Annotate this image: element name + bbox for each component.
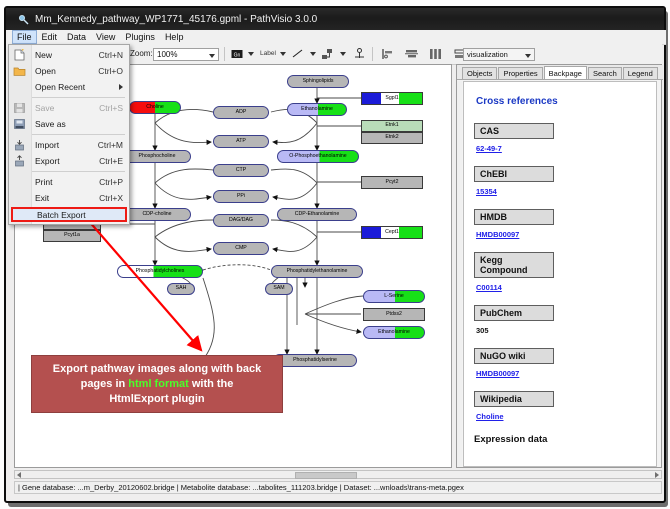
pathway-node-label: Phosphatidylcholines (136, 269, 185, 274)
visualization-combo[interactable]: visualization (463, 48, 535, 61)
scroll-right-icon[interactable] (655, 472, 659, 478)
cross-reference-list: CAS62-49-7ChEBI15354HMDBHMDB00097Kegg Co… (474, 123, 646, 421)
xref-header-kegg-compound: Kegg Compound (474, 252, 554, 278)
menu-data[interactable]: Data (62, 30, 91, 44)
xref-value-row: 15354 (476, 187, 646, 196)
pathway-node-label: Pcyt2 (386, 180, 399, 185)
annotation-line-2: pages in html format with the (81, 377, 234, 392)
pathway-node-label: Choline (146, 105, 164, 110)
pathway-node-label: Ethanolamine (378, 330, 410, 335)
pathway-node-label: Ptdss2 (386, 312, 402, 317)
xref-header-pubchem: PubChem (474, 305, 554, 321)
datanode-icon[interactable]: Gn (230, 47, 245, 61)
pathway-node-phosphatidylcholines[interactable]: Phosphatidylcholines (117, 265, 203, 278)
application-window: Mm_Kennedy_pathway_WP1771_45176.gpml - P… (0, 0, 670, 509)
side-panel-tabs[interactable]: Objects Properties Backpage Search Legen… (457, 65, 663, 80)
xref-header-wikipedia: Wikipedia (474, 391, 554, 407)
tab-properties[interactable]: Properties (498, 67, 542, 79)
pathway-node-phosphatidylserine[interactable]: Phosphatidylserine (273, 354, 357, 367)
status-bar: | Gene database: ...m_Derby_20120602.bri… (14, 481, 662, 494)
file-menu-item-save-accel: Ctrl+S (99, 103, 123, 113)
open-folder-icon (13, 65, 26, 77)
import-icon (13, 139, 26, 151)
file-menu-item-open-accel: Ctrl+O (98, 66, 123, 76)
tab-legend[interactable]: Legend (623, 67, 658, 79)
pathway-node-adp[interactable]: ADP (213, 106, 269, 119)
file-menu-item-import[interactable]: Import Ctrl+M (9, 137, 129, 153)
file-menu-item-batch-export-label: Batch Export (37, 210, 86, 220)
connector-icon[interactable] (320, 47, 335, 61)
save-icon (13, 102, 26, 114)
pathway-node-label: Etnk2 (385, 135, 398, 140)
file-menu-item-export-accel: Ctrl+E (99, 156, 123, 166)
file-menu-item-save[interactable]: Save Ctrl+S (9, 100, 129, 116)
tab-objects[interactable]: Objects (462, 67, 497, 79)
zoom-value: 100% (157, 50, 177, 59)
zoom-label: Zoom: (130, 49, 153, 58)
file-menu-item-batch-export[interactable]: Batch Export (11, 207, 127, 222)
pathway-node-ptdss2[interactable]: Ptdss2 (363, 308, 425, 321)
menu-plugins[interactable]: Plugins (120, 30, 160, 44)
xref-value-row: HMDB00097 (476, 369, 646, 378)
title-bar: Mm_Kennedy_pathway_WP1771_45176.gpml - P… (6, 8, 664, 30)
pathway-node-o-phosphoethanolamine[interactable]: O-Phosphoethanolamine (277, 150, 359, 163)
pathway-node-ctp[interactable]: CTP (213, 164, 269, 177)
file-menu-item-exit[interactable]: Exit Ctrl+X (9, 190, 129, 206)
pathway-node-atp[interactable]: ATP (213, 135, 269, 148)
chevron-down-icon[interactable] (209, 54, 215, 58)
pathway-node-label: O-Phosphoethanolamine (289, 154, 346, 159)
annotation-line-1: Export pathway images along with back (53, 362, 261, 377)
xref-link[interactable]: HMDB00097 (476, 369, 519, 378)
pathway-node-choline-top[interactable]: Choline (129, 101, 181, 114)
xref-header-hmdb: HMDB (474, 209, 554, 225)
file-menu-dropdown[interactable]: New Ctrl+N Open Ctrl+O Open Recent Save … (8, 44, 130, 225)
export-icon (13, 155, 26, 167)
pathway-node-label: Cept1 (385, 230, 399, 235)
pathway-node-phosphatidylethanolamine[interactable]: Phosphatidylethanolamine (271, 265, 363, 278)
file-menu-item-import-label: Import (35, 140, 59, 150)
menu-bar[interactable]: File Edit Data View Plugins Help (8, 30, 666, 45)
pathway-node-label: CDP-Ethanolamine (295, 212, 339, 217)
connector-dropdown-icon[interactable] (340, 52, 346, 56)
file-menu-item-new-accel: Ctrl+N (99, 50, 123, 60)
file-menu-item-save-label: Save (35, 103, 54, 113)
xref-value-row: 62-49-7 (476, 144, 646, 153)
file-menu-item-save-as-label: Save as (35, 119, 66, 129)
align-center-icon[interactable] (404, 47, 419, 61)
backpage-content: Cross references CAS62-49-7ChEBI15354HMD… (463, 81, 657, 467)
pathway-node-sphingolipids[interactable]: Sphingolipids (287, 75, 349, 88)
file-menu-item-open-label: Open (35, 66, 56, 76)
status-bar-text: | Gene database: ...m_Derby_20120602.bri… (18, 483, 464, 492)
pathway-node-ethanolamine-bottom[interactable]: Ethanolamine (363, 326, 425, 339)
side-panel[interactable]: Objects Properties Backpage Search Legen… (456, 64, 662, 468)
pathvisio-icon (18, 13, 30, 25)
file-menu-item-open[interactable]: Open Ctrl+O (9, 63, 129, 79)
label-dropdown-icon[interactable] (280, 52, 286, 56)
pathway-node-ethanolamine-top[interactable]: Ethanolamine (287, 103, 347, 116)
xref-link[interactable]: C00114 (476, 283, 502, 292)
file-menu-item-exit-accel: Ctrl+X (99, 193, 123, 203)
expression-data-heading: Expression data (474, 434, 646, 445)
pathway-node-label: Etnk1 (385, 123, 398, 128)
annotation-line-2-post: with the (189, 378, 234, 390)
pathway-node-pcyt1a[interactable]: Pcyt1a (43, 230, 101, 242)
pathway-node-label: Phosphocholine (139, 154, 176, 159)
xref-header-nugo-wiki: NuGO wiki (474, 348, 554, 364)
xref-link[interactable]: 15354 (476, 187, 497, 196)
pathway-node-etnk2[interactable]: Etnk2 (361, 132, 423, 144)
pathway-node-cmp[interactable]: CMP (213, 242, 269, 255)
pathway-node-label: ADP (236, 110, 247, 115)
annotation-line-3: HtmlExport plugin (109, 392, 204, 407)
annotation-callout: Export pathway images along with back pa… (31, 355, 283, 413)
pathway-node-l-serine[interactable]: L-Serine (363, 290, 425, 303)
file-menu-item-open-recent[interactable]: Open Recent (9, 79, 129, 95)
pathway-node-cdp-choline[interactable]: CDP-choline (123, 208, 191, 221)
pathway-node-sgpl1[interactable]: Sgpl1 (361, 92, 423, 105)
pathway-node-cdp-ethanolamine[interactable]: CDP-Ethanolamine (277, 208, 357, 221)
pathway-node-ppi[interactable]: PPi (213, 190, 269, 203)
file-menu-item-print-accel: Ctrl+P (99, 177, 123, 187)
pathway-node-label: Ethanolamine (301, 107, 333, 112)
pathway-node-cept1[interactable]: Cept1 (361, 226, 423, 239)
annotation-highlight: html format (128, 378, 189, 390)
toolbar-separator (224, 47, 225, 61)
pathway-node-label: SAM (273, 286, 284, 291)
pathway-node-label: CMP (235, 246, 247, 251)
visualization-chevron-icon[interactable] (525, 54, 531, 58)
align-left-icon[interactable] (380, 47, 395, 61)
pathway-node-label: Phosphatidylethanolamine (287, 269, 348, 274)
save-as-icon (13, 118, 26, 130)
line-dropdown-icon[interactable] (310, 52, 316, 56)
xref-value: 305 (476, 326, 489, 335)
line-icon[interactable] (290, 47, 305, 61)
pathway-node-label: Sphingolipids (303, 79, 334, 84)
xref-value-row: C00114 (476, 283, 646, 292)
label-tool-label[interactable]: Label (260, 50, 276, 57)
pathway-node-label: Sgpl1 (385, 96, 398, 101)
backpage-title: Cross references (476, 96, 646, 107)
menu-edit[interactable]: Edit (37, 30, 63, 44)
menu-view[interactable]: View (91, 30, 120, 44)
file-menu-item-new[interactable]: New Ctrl+N (9, 47, 129, 63)
distribute-icon[interactable] (428, 47, 443, 61)
pathway-node-pcyt2[interactable]: Pcyt2 (361, 176, 423, 189)
xref-link[interactable]: HMDB00097 (476, 230, 519, 239)
annotation-line-2-pre: pages in (81, 378, 129, 390)
file-menu-item-import-accel: Ctrl+M (98, 140, 123, 150)
pathway-node-label: L-Serine (384, 294, 404, 299)
pathway-node-label: Phosphatidylserine (293, 358, 337, 363)
file-menu-item-exit-label: Exit (35, 193, 49, 203)
side-panel-scrollbar[interactable] (457, 81, 462, 467)
tab-search[interactable]: Search (588, 67, 622, 79)
pathway-node-label: CTP (236, 168, 246, 173)
anchor-icon[interactable] (352, 47, 367, 61)
pathway-node-label: CDP-choline (142, 212, 171, 217)
pathway-node-etnk1[interactable]: Etnk1 (361, 120, 423, 132)
xref-link[interactable]: Choline (476, 412, 504, 421)
pathway-node-label: ATP (236, 139, 246, 144)
file-menu-item-save-as[interactable]: Save as (9, 116, 129, 132)
pathway-node-dagdag[interactable]: DAG/DAG (213, 214, 269, 227)
pathway-node-label: PPi (237, 194, 245, 199)
scrollbar-thumb[interactable] (295, 472, 357, 479)
toolbar-separator-2 (372, 47, 373, 61)
new-file-icon (13, 49, 26, 61)
xref-value-row: 305 (476, 326, 646, 335)
file-menu-item-export[interactable]: Export Ctrl+E (9, 153, 129, 169)
file-menu-item-print-label: Print (35, 177, 52, 187)
zoom-combo[interactable]: 100% (153, 48, 219, 61)
pathway-node-label: SAH (176, 286, 187, 291)
pathway-node-label: DAG/DAG (229, 218, 253, 223)
scroll-left-icon[interactable] (17, 472, 21, 478)
xref-value-row: HMDB00097 (476, 230, 646, 239)
chevron-right-icon (119, 84, 123, 90)
pathway-node-phosphocholine[interactable]: Phosphocholine (123, 150, 191, 163)
file-menu-item-open-recent-label: Open Recent (35, 82, 85, 92)
file-menu-item-print[interactable]: Print Ctrl+P (9, 174, 129, 190)
tab-backpage[interactable]: Backpage (544, 66, 587, 79)
horizontal-scrollbar[interactable] (14, 470, 662, 479)
xref-header-cas: CAS (474, 123, 554, 139)
window-title: Mm_Kennedy_pathway_WP1771_45176.gpml - P… (35, 14, 317, 25)
pathway-node-sam[interactable]: SAM (265, 283, 293, 295)
file-menu-item-export-label: Export (35, 156, 60, 166)
xref-link[interactable]: 62-49-7 (476, 144, 502, 153)
file-menu-item-new-label: New (35, 50, 52, 60)
xref-value-row: Choline (476, 412, 646, 421)
pathway-node-label: Pcyt1a (64, 233, 80, 238)
visualization-value: visualization (467, 50, 508, 59)
pathway-node-sah[interactable]: SAH (167, 283, 195, 295)
menu-help[interactable]: Help (160, 30, 189, 44)
svg-text:Gn: Gn (234, 53, 241, 59)
xref-header-chebi: ChEBI (474, 166, 554, 182)
datanode-dropdown-icon[interactable] (248, 52, 254, 56)
menu-file[interactable]: File (12, 30, 37, 44)
